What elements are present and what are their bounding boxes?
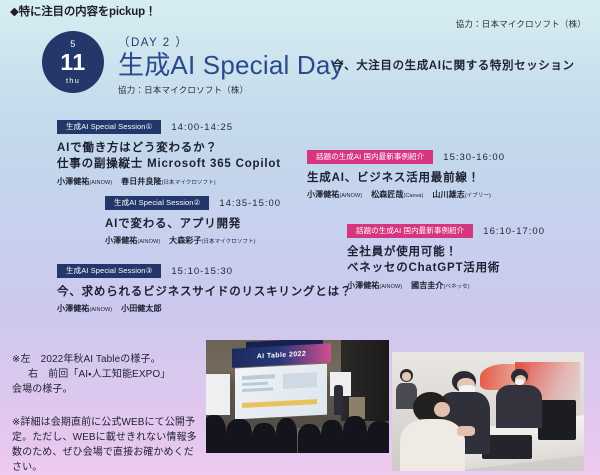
photo-caption-line3: 会場の様子。: [12, 384, 73, 395]
session-title-line1: AIで変わる、アプリ開発: [105, 216, 281, 232]
speaker-name: 小澤健祐: [105, 236, 137, 245]
footer-notes: ※左 2022年秋AI Tableの様子。 右 前回「AI・人工知能EXPO」 …: [12, 352, 202, 475]
speaker-entry: 國吉圭介(ベネッセ): [411, 281, 470, 290]
session-header: 話題の生成AI 国内最新事例紹介 15:30-16:00: [307, 150, 505, 164]
photo-staff-body: [496, 385, 542, 428]
session-badge: 生成AI Special Session①: [57, 120, 161, 134]
photo-caption-line2: 右 前回「AI・人工知能EXPO」: [12, 367, 202, 382]
photo-background-person-face: [402, 372, 412, 380]
speaker-affiliation: (日本マイクロソフト): [162, 180, 216, 186]
session-header: 生成AI Special Session③ 15:10-15:30: [57, 264, 352, 278]
session-title-line2: 仕事の副操縦士 Microsoft 365 Copilot: [57, 156, 281, 172]
session-speakers: 小澤健祐(AINOW)松森匠哉(Canva)山川雄志(イブリー): [307, 189, 505, 200]
speaker-entry: 春日井良隆(日本マイクロソフト): [121, 177, 215, 186]
speaker-affiliation: (AINOW): [89, 180, 112, 186]
speaker-entry: 小澤健祐(AINOW): [347, 281, 402, 290]
event-poster: ◆特に注目の内容をpickup！ 協力：日本マイクロソフト（株） 5 11 th…: [0, 0, 600, 475]
speaker-name: 小澤健祐: [57, 177, 89, 186]
date-month: 5: [70, 40, 76, 49]
session-card-1[interactable]: 生成AI Special Session① 14:00-14:25 AIで働き方…: [57, 120, 281, 187]
photo-caption-note: ※左 2022年秋AI Tableの様子。 右 前回「AI・人工知能EXPO」 …: [12, 352, 202, 397]
session-time: 16:10-17:00: [483, 226, 545, 237]
photo-foreground-person-face: [434, 402, 449, 417]
speaker-entry: 小澤健祐(AINOW): [57, 177, 112, 186]
session-speakers: 小澤健祐(AINOW)大森彩子(日本マイクロソフト): [105, 235, 281, 246]
speaker-entry: 小澤健祐(AINOW): [57, 304, 112, 313]
photo-audience-figure: [367, 421, 389, 453]
speaker-affiliation: (AINOW): [137, 239, 160, 245]
speaker-entry: 山川雄志(イブリー): [432, 190, 491, 199]
speaker-name: 小澤健祐: [57, 304, 89, 313]
photo-booth-scene: [392, 352, 584, 471]
session-card-2[interactable]: 生成AI Special Session② 14:35-15:00 AIで変わる…: [105, 196, 281, 246]
session-time: 15:10-15:30: [171, 266, 233, 277]
speaker-entry: 大森彩子(日本マイクロソフト): [169, 236, 255, 245]
session-time: 15:30-16:00: [443, 152, 505, 163]
session-title-line1: 全社員が使用可能！: [347, 244, 545, 260]
speaker-name: 小田健太郎: [121, 304, 162, 313]
session-speakers: 小澤健祐(AINOW)小田健太郎: [57, 303, 352, 314]
day-label: （DAY 2 ）: [118, 34, 588, 50]
session-time: 14:00-14:25: [171, 122, 233, 133]
session-badge: 話題の生成AI 国内最新事例紹介: [347, 224, 473, 238]
session-title-line1: 今、求められるビジネスサイドのリスキリングとは？: [57, 284, 352, 300]
speaker-name: 春日井良隆: [121, 177, 162, 186]
session-title-line1: 生成AI、ビジネス活用最前線！: [307, 170, 505, 186]
photo-expo-booth: [392, 352, 584, 471]
photo-foreground-person-coat: [400, 419, 465, 471]
speaker-affiliation: (AINOW): [379, 284, 402, 290]
speaker-name: 松森匠哉: [371, 190, 403, 199]
photo-projection-screen: [235, 364, 327, 420]
photo-audience-figure: [252, 423, 276, 454]
date-weekday: thu: [66, 77, 80, 85]
session-time: 14:35-15:00: [219, 198, 281, 209]
photo-ai-table-2022: AI Table 2022: [206, 340, 389, 453]
speaker-affiliation: (AINOW): [339, 193, 362, 199]
session-header: 話題の生成AI 国内最新事例紹介 16:10-17:00: [347, 224, 545, 238]
speaker-entry: 小澤健祐(AINOW): [105, 236, 160, 245]
speaker-affiliation: (AINOW): [89, 307, 112, 313]
session-speakers: 小澤健祐(AINOW)國吉圭介(ベネッセ): [347, 280, 545, 291]
speaker-entry: 小澤健祐(AINOW): [307, 190, 362, 199]
speaker-affiliation: (Canva): [404, 193, 424, 199]
photo-audience-figure: [321, 420, 343, 453]
session-card-4[interactable]: 話題の生成AI 国内最新事例紹介 15:30-16:00 生成AI、ビジネス活用…: [307, 150, 505, 200]
photo-side-panel-left: [206, 374, 230, 415]
session-speakers: 小澤健祐(AINOW)春日井良隆(日本マイクロソフト): [57, 176, 281, 187]
photo-foreground-person-hand: [457, 426, 474, 437]
photo-monitor: [538, 400, 576, 440]
photo-banner-text: AI Table 2022: [256, 350, 305, 360]
session-badge: 生成AI Special Session③: [57, 264, 161, 278]
date-day: 11: [60, 51, 85, 74]
detail-note: ※詳細は会期直前に公式WEBにて公開予定。ただし、WEBに載せきれない情報多数の…: [12, 415, 202, 475]
session-title-line1: AIで働き方はどう変わるか？: [57, 140, 281, 156]
speaker-affiliation: (イブリー): [465, 193, 491, 199]
session-badge: 話題の生成AI 国内最新事例紹介: [307, 150, 433, 164]
photo-audience-figure: [206, 415, 226, 453]
cooperation-top-label: 協力：日本マイクロソフト（株）: [456, 18, 586, 30]
photo-caption-line1: ※左 2022年秋AI Tableの様子。: [12, 354, 161, 365]
speaker-entry: 松森匠哉(Canva): [371, 190, 423, 199]
tagline: 今、大注目の生成AIに関する特別セッション: [332, 57, 575, 73]
photo-audience-figure: [276, 418, 298, 453]
session-card-5[interactable]: 話題の生成AI 国内最新事例紹介 16:10-17:00 全社員が使用可能！ ベ…: [347, 224, 545, 291]
cooperation-sub-label: 協力：日本マイクロソフト（株）: [118, 84, 588, 96]
speaker-name: 山川雄志: [432, 190, 464, 199]
speaker-name: 小澤健祐: [307, 190, 339, 199]
session-header: 生成AI Special Session① 14:00-14:25: [57, 120, 281, 134]
speaker-entry: 小田健太郎: [121, 304, 162, 313]
speaker-name: 大森彩子: [169, 236, 201, 245]
photo-hall-scene: AI Table 2022: [206, 340, 389, 453]
photo-audience-figure: [343, 416, 367, 453]
session-badge: 生成AI Special Session②: [105, 196, 209, 210]
session-header: 生成AI Special Session② 14:35-15:00: [105, 196, 281, 210]
speaker-name: 小澤健祐: [347, 281, 379, 290]
session-card-3[interactable]: 生成AI Special Session③ 15:10-15:30 今、求められ…: [57, 264, 352, 314]
speaker-name: 國吉圭介: [411, 281, 443, 290]
speaker-affiliation: (日本マイクロソフト): [202, 239, 256, 245]
session-title-line2: ベネッセのChatGPT活用術: [347, 260, 545, 276]
photo-audience-figure: [226, 419, 252, 453]
pickup-note: ◆特に注目の内容をpickup！: [10, 3, 156, 19]
date-badge: 5 11 thu: [42, 31, 104, 93]
speaker-affiliation: (ベネッセ): [444, 284, 470, 290]
photo-presenter: [334, 385, 343, 414]
photo-audience-figure: [298, 424, 322, 453]
